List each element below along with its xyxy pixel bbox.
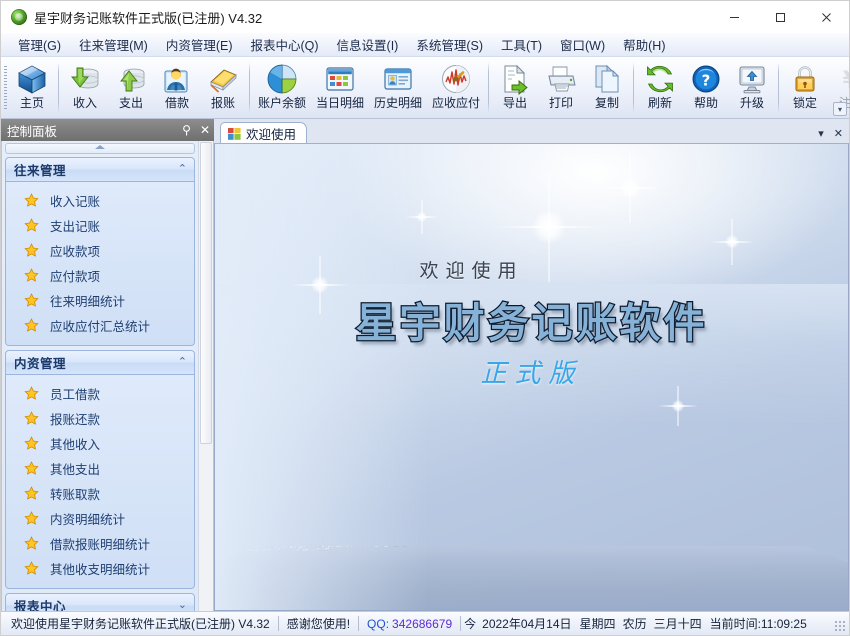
status-lunar-date: 三月十四 bbox=[650, 615, 706, 633]
sidebar-item-label: 转账取款 bbox=[50, 484, 100, 503]
sidebar-item-reimburse-repay[interactable]: 报账还款 bbox=[6, 406, 194, 431]
toolbar-overflow-button[interactable]: ▾ bbox=[833, 102, 847, 116]
sidebar-item-receivables[interactable]: 应收款项 bbox=[6, 238, 194, 263]
sidebar-scroll-up-bar[interactable] bbox=[5, 143, 195, 154]
star-icon bbox=[24, 293, 39, 308]
star-icon bbox=[24, 511, 39, 526]
toolbar-button-label: 打印 bbox=[549, 96, 573, 110]
toolbar-button-help[interactable]: ? 帮助 bbox=[683, 57, 729, 118]
toolbar-button-copy[interactable]: 复制 bbox=[584, 57, 630, 118]
toolbar-button-label: 主页 bbox=[20, 96, 44, 110]
toolbar-button-label: 借款 bbox=[165, 96, 189, 110]
toolbar-button-lock[interactable]: 锁定 bbox=[782, 57, 828, 118]
sidebar-item-label: 其他收支明细统计 bbox=[50, 559, 150, 578]
menu-bar: 管理(G) 往来管理(M) 内资管理(E) 报表中心(Q) 信息设置(I) 系统… bbox=[1, 33, 849, 57]
toolbar-separator bbox=[58, 62, 59, 113]
toolbar: 主页 收入 bbox=[1, 57, 849, 119]
waveform-gauge-icon bbox=[440, 63, 472, 95]
toolbar-button-refresh[interactable]: 刷新 bbox=[637, 57, 683, 118]
toolbar-button-label: 应收应付 bbox=[432, 96, 480, 110]
tab-strip-controls: ▾ ✕ bbox=[818, 129, 843, 140]
window-controls bbox=[711, 1, 849, 33]
sidebar-item-label: 收入记账 bbox=[50, 191, 100, 210]
status-bar: 欢迎使用星宇财务记账软件正式版(已注册) V4.32 感谢您使用! QQ: 34… bbox=[1, 611, 849, 635]
sidebar-item-label: 应收款项 bbox=[50, 241, 100, 260]
pin-icon[interactable]: ⚲ bbox=[182, 124, 191, 136]
toolbar-button-reimburse[interactable]: 报账 bbox=[200, 57, 246, 118]
status-lunar-label: 农历 bbox=[620, 615, 650, 633]
sidebar-item-transfer-withdraw[interactable]: 转账取款 bbox=[6, 481, 194, 506]
copy-pages-icon bbox=[591, 63, 623, 95]
toolbar-separator bbox=[249, 62, 250, 113]
expense-up-arrow-icon bbox=[115, 63, 147, 95]
menu-system[interactable]: 系统管理(S) bbox=[407, 32, 492, 58]
window-title: 星宇财务记账软件正式版(已注册) V4.32 bbox=[34, 8, 262, 27]
star-icon bbox=[24, 243, 39, 258]
toolbar-button-export[interactable]: 导出 bbox=[492, 57, 538, 118]
star-icon bbox=[24, 218, 39, 233]
home-cube-icon bbox=[16, 63, 48, 95]
toolbar-group-views: 账户余额 当日明细 bbox=[253, 57, 485, 118]
help-question-icon: ? bbox=[690, 63, 722, 95]
toolbar-separator bbox=[778, 62, 779, 113]
income-down-arrow-icon bbox=[69, 63, 101, 95]
toolbar-button-history-detail[interactable]: 历史明细 bbox=[369, 57, 427, 118]
close-icon[interactable]: ✕ bbox=[200, 124, 210, 136]
toolbar-group-tools: 刷新 ? 帮助 bbox=[637, 57, 775, 118]
sidebar-group-body: 员工借款 报账还款 其他收入 bbox=[5, 375, 195, 589]
pie-chart-icon bbox=[266, 63, 298, 95]
splash-welcome-text: 欢迎使用 bbox=[215, 256, 848, 283]
chevron-up-icon[interactable]: ⌃ bbox=[178, 357, 187, 368]
toolbar-separator bbox=[488, 62, 489, 113]
scrollbar-thumb[interactable] bbox=[200, 142, 212, 444]
sidebar-item-expense-record[interactable]: 支出记账 bbox=[6, 213, 194, 238]
sidebar-group-header[interactable]: 报表中心 ⌄ bbox=[5, 593, 195, 611]
menu-tools[interactable]: 工具(T) bbox=[492, 32, 551, 58]
sidebar-vertical-scrollbar[interactable] bbox=[198, 141, 213, 611]
splash-text-block: 欢迎使用 星宇财务记账软件 正式版 bbox=[215, 256, 848, 390]
status-time: 当前时间:11:09:25 bbox=[706, 615, 811, 633]
maximize-button[interactable] bbox=[757, 1, 803, 33]
toolbar-button-label: 报账 bbox=[211, 96, 235, 110]
main-body: 控制面板 ⚲ ✕ 往来管理 ⌃ bbox=[1, 119, 849, 611]
toolbar-button-print[interactable]: 打印 bbox=[538, 57, 584, 118]
sidebar-group-transactions: 往来管理 ⌃ 收入记账 支出记账 bbox=[5, 157, 195, 346]
export-page-arrow-icon bbox=[499, 63, 531, 95]
window-tile-icon bbox=[228, 127, 241, 139]
star-icon bbox=[24, 461, 39, 476]
toolbar-button-income[interactable]: 收入 bbox=[62, 57, 108, 118]
sidebar-item-label: 报账还款 bbox=[50, 409, 100, 428]
star-icon bbox=[24, 561, 39, 576]
minimize-button[interactable] bbox=[711, 1, 757, 33]
mdi-area: 欢迎使用 ▾ ✕ 382915 2502 48291 3056 28201 05… bbox=[214, 119, 849, 611]
sidebar-item-loan-reimburse-detail-stats[interactable]: 借款报账明细统计 bbox=[6, 531, 194, 556]
sidebar-group-internal-funds: 内资管理 ⌃ 员工借款 报账还款 bbox=[5, 350, 195, 589]
sidebar-item-label: 应收应付汇总统计 bbox=[50, 316, 150, 335]
star-icon bbox=[24, 536, 39, 551]
sidebar-item-other-inout-detail-stats[interactable]: 其他收支明细统计 bbox=[6, 556, 194, 581]
sidebar-item-label: 往来明细统计 bbox=[50, 291, 125, 310]
splash-product-name: 星宇财务记账软件 bbox=[215, 289, 848, 349]
sidebar-group-header[interactable]: 往来管理 ⌃ bbox=[5, 157, 195, 182]
sidebar-item-receivable-payable-summary[interactable]: 应收应付汇总统计 bbox=[6, 313, 194, 338]
sidebar-item-label: 应付款项 bbox=[50, 266, 100, 285]
toolbar-button-today-detail[interactable]: 当日明细 bbox=[311, 57, 369, 118]
menu-reports[interactable]: 报表中心(Q) bbox=[241, 32, 327, 58]
menu-help[interactable]: 帮助(H) bbox=[614, 32, 674, 58]
toolbar-group-home: 主页 bbox=[9, 57, 55, 118]
reimburse-book-icon bbox=[207, 63, 239, 95]
menu-internal-funds[interactable]: 内资管理(E) bbox=[157, 32, 242, 58]
toolbar-button-label: 历史明细 bbox=[374, 96, 422, 110]
upgrade-monitor-icon bbox=[736, 63, 768, 95]
status-today-marker: 今 bbox=[462, 615, 478, 633]
sidebar-item-label: 内资明细统计 bbox=[50, 509, 125, 528]
toolbar-button-label: 当日明细 bbox=[316, 96, 364, 110]
chevron-down-icon[interactable]: ▾ bbox=[818, 129, 824, 140]
chevron-up-icon[interactable]: ⌃ bbox=[178, 164, 187, 175]
sidebar-item-label: 借款报账明细统计 bbox=[50, 534, 150, 553]
welcome-splash: 382915 2502 48291 3056 28201 0585 440004… bbox=[215, 144, 848, 610]
star-icon bbox=[24, 318, 39, 333]
star-icon bbox=[24, 436, 39, 451]
sidebar-content: 往来管理 ⌃ 收入记账 支出记账 bbox=[2, 141, 198, 611]
status-divider bbox=[278, 616, 279, 631]
toolbar-button-label: 升级 bbox=[740, 96, 764, 110]
chevron-down-icon[interactable]: ⌄ bbox=[178, 600, 187, 611]
sidebar-item-label: 其他收入 bbox=[50, 434, 100, 453]
application-window: 星宇财务记账软件正式版(已注册) V4.32 管理(G) 往来管理(M) 内资管… bbox=[0, 0, 850, 636]
sidebar-group-title: 往来管理 bbox=[14, 160, 66, 179]
status-divider bbox=[358, 616, 359, 631]
sidebar-item-label: 支出记账 bbox=[50, 216, 100, 235]
loan-person-icon bbox=[161, 63, 193, 95]
toolbar-grip[interactable] bbox=[1, 57, 9, 118]
toolbar-button-label: 收入 bbox=[73, 96, 97, 110]
menu-info-settings[interactable]: 信息设置(I) bbox=[328, 32, 408, 58]
tab-label: 欢迎使用 bbox=[246, 124, 296, 143]
close-icon[interactable]: ✕ bbox=[834, 129, 843, 140]
yuan-register-icon: ¥ bbox=[835, 63, 850, 95]
sidebar-group-header[interactable]: 内资管理 ⌃ bbox=[5, 350, 195, 375]
sidebar-group-body: 收入记账 支出记账 应收款项 bbox=[5, 182, 195, 346]
sidebar-item-payables[interactable]: 应付款项 bbox=[6, 263, 194, 288]
toolbar-button-label: 账户余额 bbox=[258, 96, 306, 110]
toolbar-button-receivable-payable[interactable]: 应收应付 bbox=[427, 57, 485, 118]
status-weekday: 星期四 bbox=[576, 615, 620, 633]
menu-window[interactable]: 窗口(W) bbox=[551, 32, 614, 58]
resize-grip-icon[interactable] bbox=[834, 620, 846, 632]
sidebar-item-transaction-detail-stats[interactable]: 往来明细统计 bbox=[6, 288, 194, 313]
toolbar-group-entry: 收入 支出 bbox=[62, 57, 246, 118]
svg-text:¥: ¥ bbox=[843, 66, 850, 94]
status-thanks: 感谢您使用! bbox=[280, 615, 357, 633]
star-icon bbox=[24, 268, 39, 283]
menu-transactions[interactable]: 往来管理(M) bbox=[70, 32, 157, 58]
toolbar-button-upgrade[interactable]: 升级 bbox=[729, 57, 775, 118]
status-welcome: 欢迎使用星宇财务记账软件正式版(已注册) V4.32 bbox=[4, 615, 277, 633]
toolbar-separator bbox=[633, 62, 634, 113]
toolbar-button-label: 刷新 bbox=[648, 96, 672, 110]
sidebar-item-employee-loan[interactable]: 员工借款 bbox=[6, 381, 194, 406]
sidebar-scroll-area: 往来管理 ⌃ 收入记账 支出记账 bbox=[1, 141, 214, 611]
toolbar-button-label: 锁定 bbox=[793, 96, 817, 110]
close-button[interactable] bbox=[803, 1, 849, 33]
menu-manage[interactable]: 管理(G) bbox=[9, 32, 70, 58]
sidebar-item-label: 其他支出 bbox=[50, 459, 100, 478]
sidebar-caption-bar: 控制面板 ⚲ ✕ bbox=[1, 119, 214, 141]
mdi-client-area: 382915 2502 48291 3056 28201 0585 440004… bbox=[214, 143, 849, 611]
leaf-circle-icon bbox=[11, 9, 27, 25]
toolbar-button-label: 帮助 bbox=[694, 96, 718, 110]
status-divider bbox=[460, 616, 461, 631]
tab-welcome[interactable]: 欢迎使用 bbox=[220, 122, 307, 143]
toolbar-button-expense[interactable]: 支出 bbox=[108, 57, 154, 118]
sidebar-group-title: 报表中心 bbox=[14, 596, 66, 611]
star-icon bbox=[24, 486, 39, 501]
printer-icon bbox=[545, 63, 577, 95]
status-date: 2022年04月14日 bbox=[478, 615, 575, 633]
svg-text:?: ? bbox=[702, 72, 711, 90]
star-icon bbox=[24, 386, 39, 401]
toolbar-button-account-balance[interactable]: 账户余额 bbox=[253, 57, 311, 118]
history-card-icon bbox=[382, 63, 414, 95]
sidebar-group-title: 内资管理 bbox=[14, 353, 66, 372]
refresh-arrows-icon bbox=[644, 63, 676, 95]
status-qq-label: QQ: bbox=[360, 615, 392, 633]
sidebar-item-other-expense[interactable]: 其他支出 bbox=[6, 456, 194, 481]
toolbar-button-home[interactable]: 主页 bbox=[9, 57, 55, 118]
title-bar: 星宇财务记账软件正式版(已注册) V4.32 bbox=[1, 1, 849, 33]
toolbar-button-label: 支出 bbox=[119, 96, 143, 110]
toolbar-button-loan[interactable]: 借款 bbox=[154, 57, 200, 118]
tab-strip: 欢迎使用 ▾ ✕ bbox=[214, 119, 849, 143]
toolbar-button-label: 复制 bbox=[595, 96, 619, 110]
sidebar-item-income-record[interactable]: 收入记账 bbox=[6, 188, 194, 213]
lock-icon bbox=[789, 63, 821, 95]
status-qq-number[interactable]: 342686679 bbox=[392, 615, 459, 633]
sidebar-caption-title: 控制面板 bbox=[7, 121, 57, 140]
calendar-table-icon bbox=[324, 63, 356, 95]
sidebar-item-internal-funds-detail-stats[interactable]: 内资明细统计 bbox=[6, 506, 194, 531]
sidebar-caption-buttons: ⚲ ✕ bbox=[182, 119, 210, 141]
sidebar-item-other-income[interactable]: 其他收入 bbox=[6, 431, 194, 456]
sidebar-group-reports: 报表中心 ⌄ bbox=[5, 593, 195, 611]
sidebar-item-label: 员工借款 bbox=[50, 384, 100, 403]
sidebar: 控制面板 ⚲ ✕ 往来管理 ⌃ bbox=[1, 119, 214, 611]
star-icon bbox=[24, 193, 39, 208]
star-icon bbox=[24, 411, 39, 426]
splash-edition-text: 正式版 bbox=[215, 353, 848, 390]
toolbar-group-output: 导出 打印 bbox=[492, 57, 630, 118]
toolbar-button-label: 导出 bbox=[503, 96, 527, 110]
